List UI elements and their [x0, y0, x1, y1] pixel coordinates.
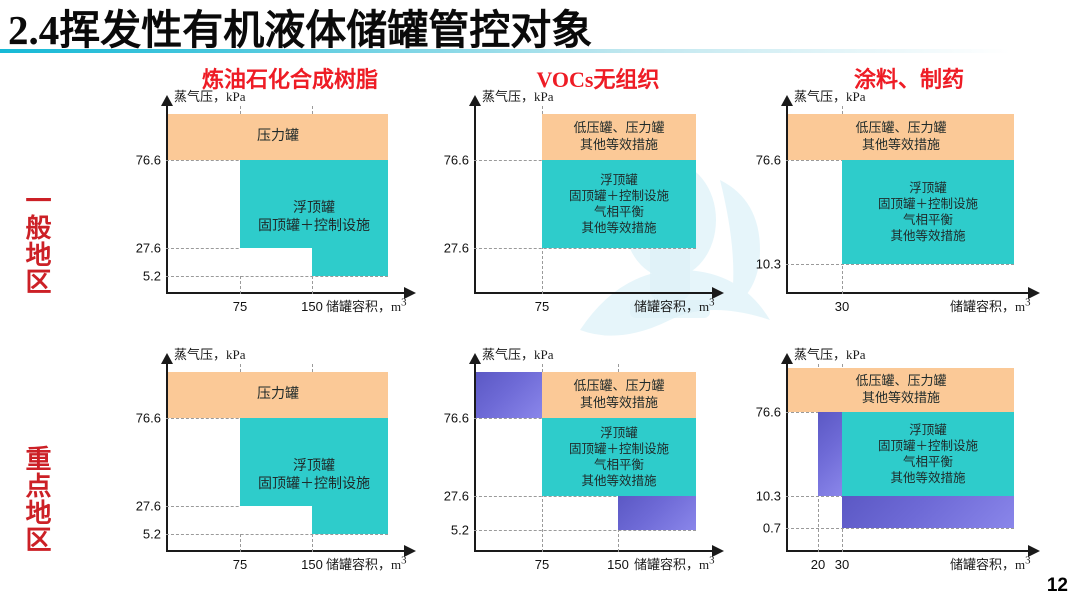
block-low-pressure-tank-r2c3: 低压罐、压力罐 其他等效措施: [788, 368, 1014, 412]
block-line: 其他等效措施: [581, 220, 656, 236]
block-line: 气相平衡: [903, 454, 953, 470]
chart-r1c3: 涂料、制药 蒸气压，kPa 储罐容积，m3 76.6 10.3 30 低压罐、压…: [754, 62, 1064, 320]
block-expanded-scope-left-r2c3: [818, 412, 842, 496]
block-cutout-r1c1: [240, 248, 312, 276]
block-line: 其他等效措施: [580, 137, 658, 154]
block-line: 压力罐: [257, 128, 299, 146]
block-line: 浮顶罐: [909, 180, 947, 196]
x-tick-r2c3-1: 30: [835, 557, 849, 572]
x-tick-r2c3-0: 20: [811, 557, 825, 572]
block-line: 浮顶罐: [600, 425, 638, 441]
chart-r1c2: VOCs无组织 蒸气压，kPa 储罐容积，m3 76.6 27.6 75 低压罐…: [448, 62, 748, 320]
y-tick-r2c3-0: 76.6: [756, 405, 781, 420]
y-tick-r2c2-1: 27.6: [444, 489, 469, 504]
y-axis-arrow-icon-r2c1: [161, 353, 173, 364]
y-axis-arrow-icon-r1c2: [469, 95, 481, 106]
gridline-r1c1-c: [166, 276, 388, 277]
x-axis-label-r1c1: 储罐容积，m3: [326, 296, 407, 315]
y-axis-label-r2c1: 蒸气压，kPa: [174, 344, 246, 363]
y-tick-r1c3-1: 10.3: [756, 257, 781, 272]
y-tick-r1c3-0: 76.6: [756, 153, 781, 168]
y-tick-r2c3-2: 0.7: [763, 521, 781, 536]
plot-area-r2c2: 蒸气压，kPa 储罐容积，m3 76.6 27.6 5.2 75 150 低压罐…: [474, 364, 724, 552]
y-tick-r2c1-0: 76.6: [136, 411, 161, 426]
block-line: 低压罐、压力罐: [855, 120, 946, 137]
y-axis-arrow-icon-r2c3: [781, 353, 793, 364]
block-floating-roof-tank-r2c3: 浮顶罐 固顶罐＋控制设施 气相平衡 其他等效措施: [842, 412, 1014, 496]
y-tick-r1c2-0: 76.6: [444, 153, 469, 168]
block-line: 气相平衡: [903, 212, 953, 228]
gridline-r1c2-b: [474, 248, 696, 249]
block-cutout-r2c1: [240, 506, 312, 534]
x-tick-r1c3-0: 30: [835, 299, 849, 314]
y-tick-r1c2-1: 27.6: [444, 241, 469, 256]
block-line: 气相平衡: [594, 204, 644, 220]
block-expanded-scope-upper-r2c2: [476, 372, 542, 418]
page-number: 12: [1047, 575, 1068, 597]
plot-area-r1c2: 蒸气压，kPa 储罐容积，m3 76.6 27.6 75 低压罐、压力罐 其他等…: [474, 106, 724, 294]
block-line: 低压罐、压力罐: [573, 378, 664, 395]
y-tick-r2c3-1: 10.3: [756, 489, 781, 504]
block-line: 其他等效措施: [580, 395, 658, 412]
x-axis-label-r2c3: 储罐容积，m3: [950, 554, 1031, 573]
y-axis-label-r1c1: 蒸气压，kPa: [174, 86, 246, 105]
block-expanded-scope-lower-r2c3: [842, 496, 1014, 528]
x-axis-r2c3: [786, 550, 1028, 552]
block-low-pressure-tank-r2c2: 低压罐、压力罐 其他等效措施: [542, 372, 696, 418]
block-line: 固顶罐＋控制设施: [258, 476, 370, 494]
plot-area-r1c3: 蒸气压，kPa 储罐容积，m3 76.6 10.3 30 低压罐、压力罐 其他等…: [786, 106, 1040, 294]
block-pressure-tank-r2c1: 压力罐: [168, 372, 388, 418]
y-axis-label-r1c2: 蒸气压，kPa: [482, 86, 554, 105]
x-axis-label-r1c3: 储罐容积，m3: [950, 296, 1031, 315]
y-axis-arrow-icon-r1c1: [161, 95, 173, 106]
y-tick-r1c1-0: 76.6: [136, 153, 161, 168]
y-axis-label-r1c3: 蒸气压，kPa: [794, 86, 866, 105]
y-axis-arrow-icon-r2c2: [469, 353, 481, 364]
chart-r2c2: 蒸气压，kPa 储罐容积，m3 76.6 27.6 5.2 75 150 低压罐…: [448, 344, 748, 594]
block-line: 固顶罐＋控制设施: [878, 196, 978, 212]
y-axis-label-r2c3: 蒸气压，kPa: [794, 344, 866, 363]
block-line: 其他等效措施: [862, 137, 940, 154]
x-axis-r1c3: [786, 292, 1028, 294]
block-line: 浮顶罐: [293, 200, 335, 218]
plot-area-r1c1: 蒸气压，kPa 储罐容积，m3 76.6 27.6 5.2 75 150 压力罐…: [166, 106, 416, 294]
block-line: 低压罐、压力罐: [573, 120, 664, 137]
y-tick-r1c1-2: 5.2: [143, 269, 161, 284]
block-line: 浮顶罐: [909, 422, 947, 438]
chart-r1c1: 炼油石化合成树脂 蒸气压，kPa 储罐容积，m3 76.6 27.6 5.2 7…: [140, 62, 440, 320]
x-tick-r2c1-0: 75: [233, 557, 247, 572]
title-divider: [0, 49, 1010, 53]
gridline-r2c3-c: [786, 528, 1014, 529]
gridline-r2c2-c: [474, 530, 696, 531]
block-line: 浮顶罐: [600, 172, 638, 188]
gridline-r1c3-b: [786, 264, 1014, 265]
x-axis-label-r2c2: 储罐容积，m3: [634, 554, 715, 573]
plot-area-r2c3: 蒸气压，kPa 储罐容积，m3 76.6 10.3 0.7 20 30 低压罐、…: [786, 364, 1040, 552]
y-tick-r2c2-2: 5.2: [451, 523, 469, 538]
x-axis-r1c2: [474, 292, 712, 294]
x-axis-label-r2c1: 储罐容积，m3: [326, 554, 407, 573]
y-axis-label-r2c2: 蒸气压，kPa: [482, 344, 554, 363]
chart-r2c3: 蒸气压，kPa 储罐容积，m3 76.6 10.3 0.7 20 30 低压罐、…: [754, 344, 1064, 594]
x-tick-r2c2-1: 150: [607, 557, 629, 572]
row-label-key-area: 重点地区: [6, 424, 50, 574]
block-line: 低压罐、压力罐: [855, 373, 946, 390]
x-axis-r1c1: [166, 292, 404, 294]
block-line: 压力罐: [257, 386, 299, 404]
block-low-pressure-tank-r1c3: 低压罐、压力罐 其他等效措施: [788, 114, 1014, 160]
block-floating-roof-tank-r2c2: 浮顶罐 固顶罐＋控制设施 气相平衡 其他等效措施: [542, 418, 696, 496]
block-line: 浮顶罐: [293, 458, 335, 476]
y-tick-r1c1-1: 27.6: [136, 241, 161, 256]
y-tick-r2c1-2: 5.2: [143, 527, 161, 542]
y-tick-r2c2-0: 76.6: [444, 411, 469, 426]
block-line: 其他等效措施: [581, 473, 656, 489]
block-floating-roof-tank-r1c3: 浮顶罐 固顶罐＋控制设施 气相平衡 其他等效措施: [842, 160, 1014, 264]
block-expanded-scope-lower-r2c2: [618, 496, 696, 530]
x-tick-r1c1-0: 75: [233, 299, 247, 314]
x-axis-r2c2: [474, 550, 712, 552]
x-axis-r2c1: [166, 550, 404, 552]
x-tick-r1c1-1: 150: [301, 299, 323, 314]
block-line: 固顶罐＋控制设施: [878, 438, 978, 454]
page-title: 2.4挥发性有机液体储罐管控对象: [8, 0, 592, 56]
block-pressure-tank-r1c1: 压力罐: [168, 114, 388, 160]
y-axis-r1c2: [474, 106, 476, 294]
y-axis-arrow-icon-r1c3: [781, 95, 793, 106]
row-label-general-area: 一般地区: [6, 166, 50, 316]
x-tick-r2c1-1: 150: [301, 557, 323, 572]
block-line: 固顶罐＋控制设施: [569, 188, 669, 204]
block-line: 其他等效措施: [890, 228, 965, 244]
slide-canvas: 2.4挥发性有机液体储罐管控对象 一般地区 重点地区 炼油石化合成树脂 蒸气压，…: [0, 0, 1080, 607]
block-line: 其他等效措施: [862, 390, 940, 407]
block-line: 固顶罐＋控制设施: [258, 218, 370, 236]
block-line: 气相平衡: [594, 457, 644, 473]
x-axis-label-r1c2: 储罐容积，m3: [634, 296, 715, 315]
block-line: 固顶罐＋控制设施: [569, 441, 669, 457]
block-line: 其他等效措施: [890, 470, 965, 486]
x-tick-r1c2-0: 75: [535, 299, 549, 314]
chart-r2c1: 蒸气压，kPa 储罐容积，m3 76.6 27.6 5.2 75 150 压力罐…: [140, 344, 440, 594]
gridline-r2c1-c: [166, 534, 388, 535]
plot-area-r2c1: 蒸气压，kPa 储罐容积，m3 76.6 27.6 5.2 75 150 压力罐…: [166, 364, 416, 552]
block-low-pressure-tank-r1c2: 低压罐、压力罐 其他等效措施: [542, 114, 696, 160]
x-tick-r2c2-0: 75: [535, 557, 549, 572]
y-tick-r2c1-1: 27.6: [136, 499, 161, 514]
block-floating-roof-tank-r1c2: 浮顶罐 固顶罐＋控制设施 气相平衡 其他等效措施: [542, 160, 696, 248]
